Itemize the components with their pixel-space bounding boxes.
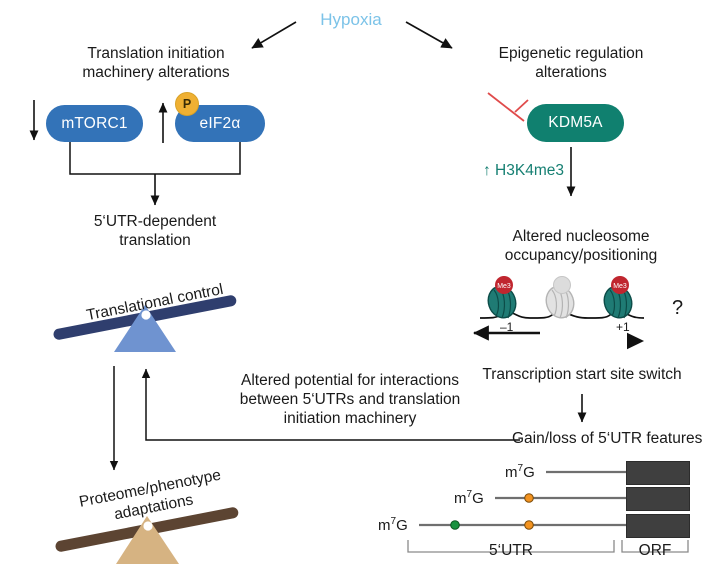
hypoxia-label: Hypoxia [301, 10, 401, 31]
left-branch-heading-line2: machinery alterations [56, 64, 256, 83]
nucleosome-effect-line2: occupancy/positioning [470, 247, 692, 266]
bracket-label-5utr: 5‘UTR [408, 542, 614, 561]
svg-text:Me3: Me3 [613, 283, 627, 290]
nucleosome-plus1: Me3 [600, 276, 636, 321]
gain-loss-label: Gain/loss of 5‘UTR features [512, 430, 702, 449]
bracket-label-orf: ORF [622, 542, 688, 561]
arrow-hypoxia-to-right [406, 22, 452, 48]
cap-label-row1: m7G [505, 463, 535, 481]
node-mtorc1[interactable]: mTORC1 [46, 105, 143, 142]
bracket-initiation-nodes [70, 141, 240, 174]
connector-layer: Me3 Me3 [0, 0, 702, 571]
figure-canvas: Me3 Me3 [0, 0, 702, 571]
nucleosome-position-minus1: –1 [500, 320, 513, 334]
inhibition-bar-kdm5a [515, 100, 528, 112]
nucleosome-effect-line1: Altered nucleosome [470, 228, 692, 247]
orf-box-row3 [626, 514, 690, 538]
orf-box-row1 [626, 461, 690, 485]
feedback-line2: between 5‘UTRs and translation [190, 391, 510, 410]
svg-text:Me3: Me3 [497, 283, 511, 290]
nucleosome-position-plus1: +1 [616, 320, 630, 334]
transcript-row-2 [495, 494, 626, 503]
feedback-line3: initiation machinery [190, 410, 510, 429]
left-branch-heading-line1: Translation initiation [56, 45, 256, 64]
feedback-line1: Altered potential for interactions [190, 372, 510, 391]
arrow-hypoxia-to-left [252, 22, 296, 48]
utr-dependent-translation-line2: translation [55, 232, 255, 251]
right-branch-heading-line1: Epigenetic regulation [460, 45, 682, 64]
inhibition-line-kdm5a [488, 93, 524, 121]
transcript-row-3 [419, 521, 626, 530]
cap-label-row3: m7G [378, 516, 408, 534]
h3k4me3-label: ↑ H3K4me3 [483, 162, 593, 181]
unknown-question-mark: ? [672, 297, 683, 320]
node-kdm5a[interactable]: KDM5A [527, 104, 624, 142]
orf-box-row2 [626, 487, 690, 511]
right-branch-heading-line2: alterations [460, 64, 682, 83]
utr-dependent-translation-line1: 5‘UTR-dependent [55, 213, 255, 232]
phosphorylation-badge: P [175, 92, 199, 116]
cap-label-row2: m7G [454, 489, 484, 507]
